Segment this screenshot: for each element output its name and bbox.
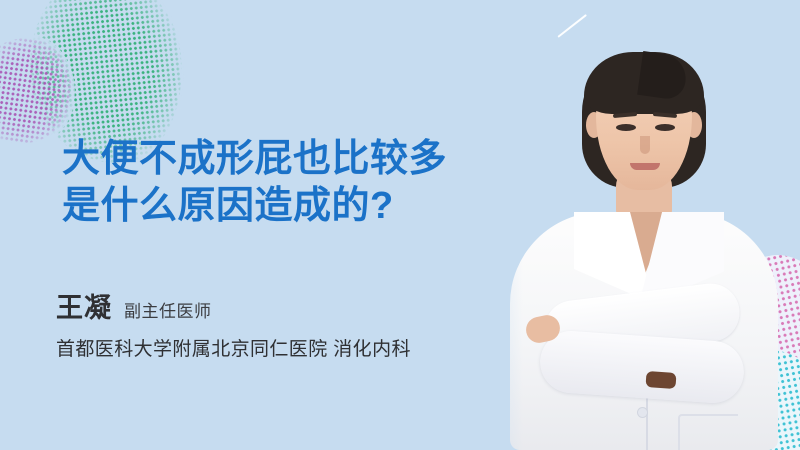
page-title: 大便不成形屁也比较多 是什么原因造成的? xyxy=(62,136,582,230)
doctor-professional-title: 副主任医师 xyxy=(124,297,212,322)
doctor-name: 王凝 xyxy=(56,286,112,325)
doctor-affiliation: 首都医科大学附属北京同仁医院 消化内科 xyxy=(56,334,526,361)
purple-halftone-blob-decoration xyxy=(0,32,79,150)
video-thumbnail-poster: 大便不成形屁也比较多 是什么原因造成的? 王凝 副主任医师 首都医科大学附属北京… xyxy=(0,0,800,450)
doctor-name-row: 王凝 副主任医师 xyxy=(56,286,526,325)
doctor-credentials-block: 王凝 副主任医师 首都医科大学附属北京同仁医院 消化内科 xyxy=(56,286,526,361)
